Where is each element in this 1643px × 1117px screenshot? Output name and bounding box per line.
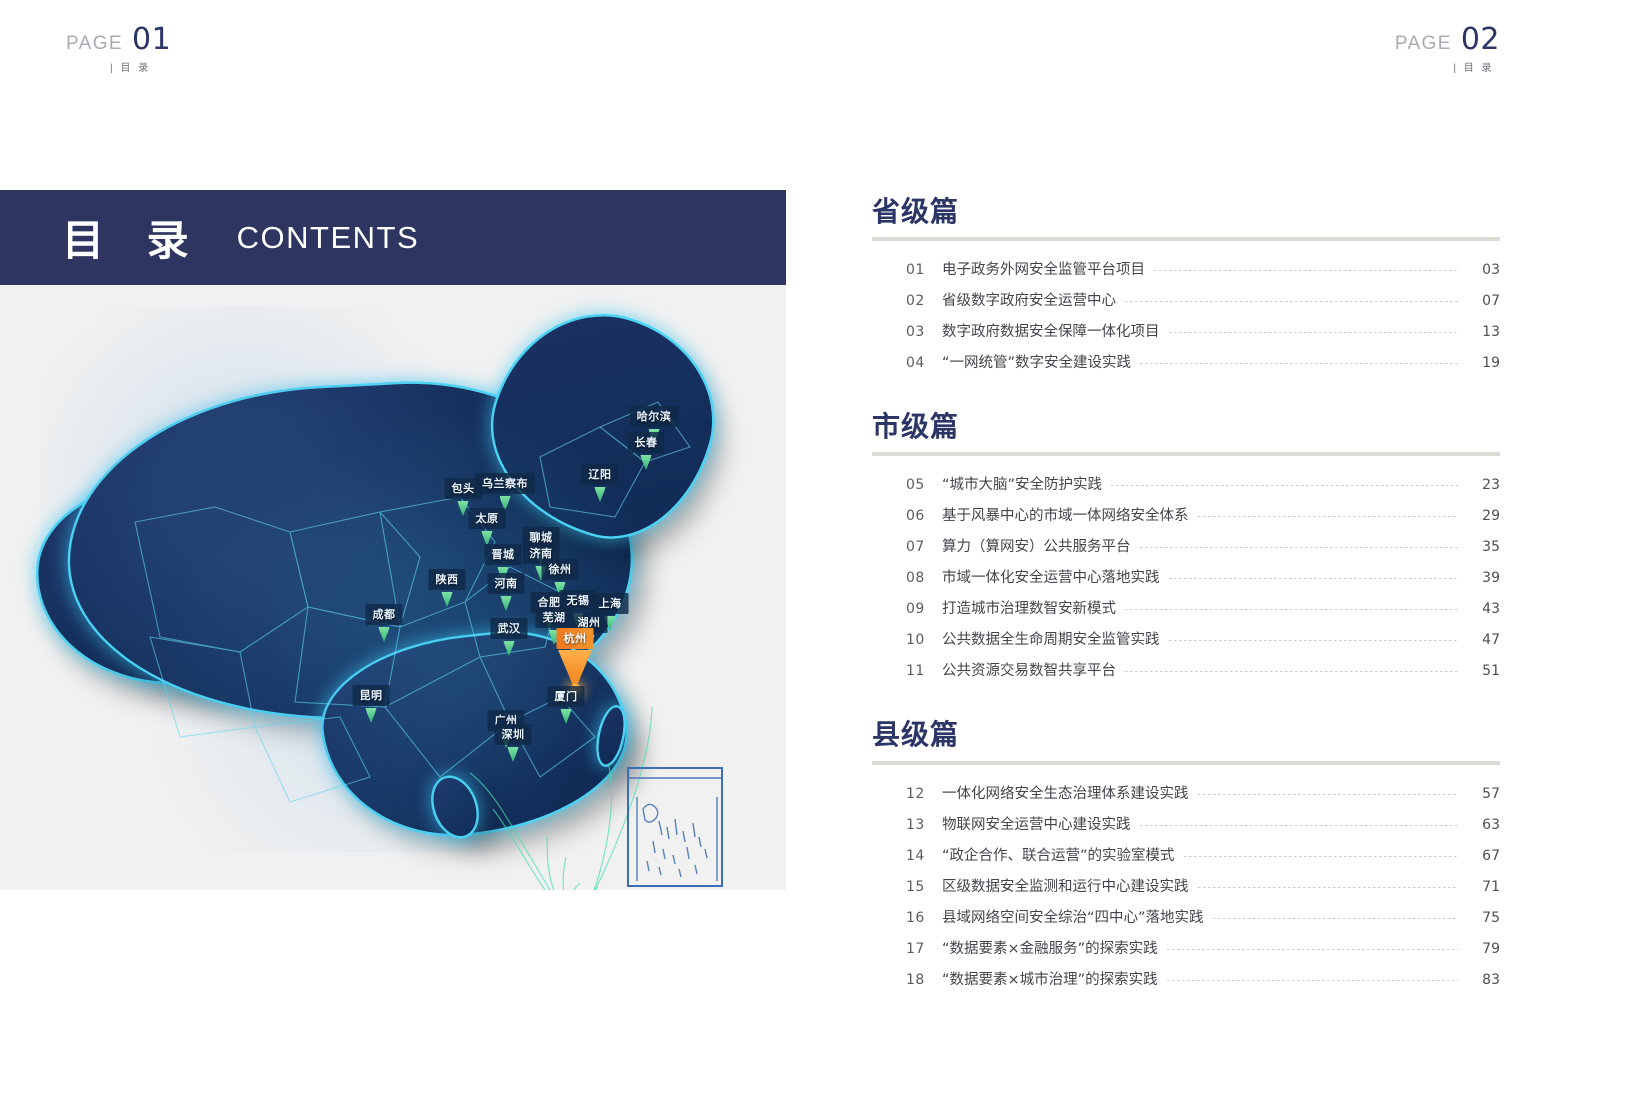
map-city-label: 上海 (592, 593, 629, 614)
page-header-left: PAGE 01 | 目 录 (66, 22, 171, 74)
map-city-label: 包头 (445, 478, 482, 499)
toc-entry[interactable]: 12一体化网络安全生态治理体系建设实践57 (872, 777, 1500, 808)
toc-entry-number: 15 (906, 879, 942, 895)
map-inset-divider (629, 777, 721, 779)
table-of-contents: 省级篇01电子政务外网安全监管平台项目0302省级数字政府安全运营中心0703数… (872, 196, 1500, 1016)
toc-entry[interactable]: 03数字政府数据安全保障一体化项目13 (872, 315, 1500, 346)
toc-entry-page-number: 79 (1466, 941, 1500, 957)
toc-entry-leader-dots (1140, 547, 1459, 548)
toc-entry[interactable]: 09打造城市治理数智安新模式43 (872, 592, 1500, 623)
toc-section-title: 市级篇 (872, 411, 1500, 443)
toc-section-title: 县级篇 (872, 719, 1500, 751)
toc-entry-title: “数据要素×城市治理”的探索实践 (942, 968, 1158, 989)
map-pin-icon (595, 487, 606, 502)
toc-entry-number: 09 (906, 601, 942, 617)
map-city-label: 辽阳 (582, 464, 619, 485)
toc-entry-page-number: 67 (1466, 848, 1500, 864)
toc-entry-leader-dots (1198, 794, 1459, 795)
toc-entry-page-number: 43 (1466, 601, 1500, 617)
map-pin-icon (366, 708, 377, 723)
toc-entry-leader-dots (1169, 332, 1459, 333)
toc-entry-leader-dots (1111, 485, 1458, 486)
toc-entry-title: 公共数据全生命周期安全监管实践 (942, 628, 1160, 649)
map-city-label: 深圳 (495, 724, 532, 745)
contents-title-en: CONTENTS (237, 220, 420, 256)
page-number-left: 01 (132, 22, 171, 57)
page-label-left: PAGE (66, 33, 123, 55)
toc-entry[interactable]: 17“数据要素×金融服务”的探索实践79 (872, 932, 1500, 963)
toc-entry-leader-dots (1167, 980, 1458, 981)
toc-section: 市级篇05“城市大脑”安全防护实践2306基于风暴中心的市域一体网络安全体系29… (872, 411, 1500, 685)
toc-entry-title: “数据要素×金融服务”的探索实践 (942, 937, 1158, 958)
toc-entry-number: 07 (906, 539, 942, 555)
toc-entry-title: 县域网络空间安全综治“四中心”落地实践 (942, 906, 1204, 927)
toc-entry-title: 算力（算网安）公共服务平台 (942, 535, 1131, 556)
toc-entry-title: 市域一体化安全运营中心落地实践 (942, 566, 1160, 587)
toc-entry-leader-dots (1198, 887, 1459, 888)
toc-entry[interactable]: 07算力（算网安）公共服务平台35 (872, 530, 1500, 561)
toc-section: 县级篇12一体化网络安全生态治理体系建设实践5713物联网安全运营中心建设实践6… (872, 719, 1500, 993)
toc-entry[interactable]: 16县域网络空间安全综治“四中心”落地实践75 (872, 901, 1500, 932)
toc-entry[interactable]: 11公共资源交易数智共享平台51 (872, 654, 1500, 685)
toc-entry-number: 16 (906, 910, 942, 926)
toc-entry-number: 05 (906, 477, 942, 493)
toc-section-divider (872, 761, 1500, 765)
toc-entry-title: 打造城市治理数智安新模式 (942, 597, 1116, 618)
map-city-marker[interactable]: 辽阳 (582, 464, 619, 502)
toc-entry-page-number: 23 (1466, 477, 1500, 493)
page-header-right-top: PAGE 02 (1395, 22, 1500, 57)
toc-entry[interactable]: 18“数据要素×城市治理”的探索实践83 (872, 963, 1500, 994)
toc-entry[interactable]: 08市域一体化安全运营中心落地实践39 (872, 561, 1500, 592)
toc-entry-title: 区级数据安全监测和运行中心建设实践 (942, 875, 1189, 896)
page-header-right: PAGE 02 | 目 录 (1395, 22, 1500, 74)
toc-entry-page-number: 39 (1466, 570, 1500, 586)
map-city-marker[interactable]: 杭州 (557, 628, 594, 690)
toc-section-divider (872, 452, 1500, 456)
toc-entry-number: 18 (906, 972, 942, 988)
toc-entry[interactable]: 10公共数据全生命周期安全监管实践47 (872, 623, 1500, 654)
map-pin-icon (508, 747, 519, 762)
map-city-marker[interactable]: 乌兰察布 (475, 473, 535, 511)
map-pin-icon (379, 627, 390, 642)
toc-entry-page-number: 07 (1466, 293, 1500, 309)
toc-entry-title: 公共资源交易数智共享平台 (942, 659, 1116, 680)
contents-title-cn: 目 录 (62, 207, 203, 268)
toc-entry-number: 11 (906, 663, 942, 679)
map-city-label: 芜湖 (536, 607, 573, 628)
toc-entry-number: 17 (906, 941, 942, 957)
map-city-label: 晋城 (485, 544, 522, 565)
toc-entry-leader-dots (1213, 918, 1458, 919)
toc-entry-leader-dots (1154, 270, 1458, 271)
toc-section-divider (872, 237, 1500, 241)
toc-entry-page-number: 71 (1466, 879, 1500, 895)
toc-section-title: 省级篇 (872, 196, 1500, 228)
toc-entry-title: “一网统管”数字安全建设实践 (942, 351, 1131, 372)
toc-entry-page-number: 51 (1466, 663, 1500, 679)
map-city-label: 成都 (366, 604, 403, 625)
map-pin-icon (561, 709, 572, 724)
map-pin-icon (501, 596, 512, 611)
map-pin-icon (442, 592, 453, 607)
toc-entry-number: 04 (906, 355, 942, 371)
toc-entry-leader-dots (1169, 640, 1459, 641)
map-city-marker[interactable]: 成都 (366, 604, 403, 642)
toc-entry-page-number: 13 (1466, 324, 1500, 340)
toc-entry[interactable]: 01电子政务外网安全监管平台项目03 (872, 253, 1500, 284)
map-city-marker[interactable]: 昆明 (353, 685, 390, 723)
map-city-label: 厦门 (548, 686, 585, 707)
map-city-label: 昆明 (353, 685, 390, 706)
toc-entry-number: 10 (906, 632, 942, 648)
map-city-marker[interactable]: 太原 (469, 508, 506, 546)
page-label-right: PAGE (1395, 33, 1452, 55)
toc-entry-number: 12 (906, 786, 942, 802)
china-map: 哈尔滨长春辽阳乌兰察布包头太原聊城济南晋城徐州河南陕西合肥无锡上海芜湖湖州成都武… (0, 285, 786, 890)
toc-entry-leader-dots (1167, 949, 1458, 950)
map-city-label: 乌兰察布 (475, 473, 535, 494)
toc-entry-number: 08 (906, 570, 942, 586)
map-city-marker[interactable]: 陕西 (429, 569, 466, 607)
toc-entry-leader-dots (1184, 856, 1458, 857)
toc-entry-title: “城市大脑”安全防护实践 (942, 473, 1102, 494)
toc-entry-leader-dots (1198, 516, 1459, 517)
map-inset-south-china-sea (627, 767, 723, 887)
map-city-label: 太原 (469, 508, 506, 529)
contents-title-bar: 目 录 CONTENTS (0, 190, 786, 285)
map-city-label: 哈尔滨 (630, 406, 679, 427)
toc-entry-leader-dots (1125, 301, 1458, 302)
map-pin-icon (504, 641, 515, 656)
toc-entry-number: 13 (906, 817, 942, 833)
toc-entry-number: 02 (906, 293, 942, 309)
toc-entry-page-number: 35 (1466, 539, 1500, 555)
toc-entry-page-number: 63 (1466, 817, 1500, 833)
toc-entry-page-number: 19 (1466, 355, 1500, 371)
toc-entry-number: 03 (906, 324, 942, 340)
map-city-marker[interactable]: 长春 (628, 432, 665, 470)
page-number-right: 02 (1461, 22, 1500, 57)
toc-entry-page-number: 29 (1466, 508, 1500, 524)
toc-entry-page-number: 75 (1466, 910, 1500, 926)
map-city-label: 陕西 (429, 569, 466, 590)
toc-entry-title: 物联网安全运营中心建设实践 (942, 813, 1131, 834)
toc-entry[interactable]: 02省级数字政府安全运营中心07 (872, 284, 1500, 315)
page-subtitle-right: | 目 录 (1453, 59, 1500, 74)
toc-entry-title: 电子政务外网安全监管平台项目 (942, 258, 1145, 279)
toc-entry-number: 01 (906, 262, 942, 278)
toc-entry-leader-dots (1140, 363, 1458, 364)
toc-entry-title: 基于风暴中心的市域一体网络安全体系 (942, 504, 1189, 525)
toc-entry-number: 06 (906, 508, 942, 524)
toc-entry-page-number: 47 (1466, 632, 1500, 648)
toc-entry-title: 数字政府数据安全保障一体化项目 (942, 320, 1160, 341)
map-pin-icon (641, 455, 652, 470)
toc-entry-leader-dots (1125, 609, 1458, 610)
toc-entry[interactable]: 14“政企合作、联合运营”的实验室模式67 (872, 839, 1500, 870)
map-city-marker[interactable]: 厦门 (548, 686, 585, 724)
map-city-marker[interactable]: 河南 (488, 573, 525, 611)
map-city-label: 杭州 (557, 628, 594, 649)
toc-entry[interactable]: 15区级数据安全监测和运行中心建设实践71 (872, 870, 1500, 901)
toc-entry-page-number: 03 (1466, 262, 1500, 278)
map-city-label: 武汉 (491, 618, 528, 639)
map-pin-icon (458, 501, 469, 516)
map-landmass (40, 307, 720, 852)
toc-entry-title: 省级数字政府安全运营中心 (942, 289, 1116, 310)
toc-entry[interactable]: 13物联网安全运营中心建设实践63 (872, 808, 1500, 839)
toc-entry-number: 14 (906, 848, 942, 864)
map-inset-islands (629, 769, 725, 889)
contents-cover-panel: 目 录 CONTENTS (0, 190, 786, 890)
toc-section: 省级篇01电子政务外网安全监管平台项目0302省级数字政府安全运营中心0703数… (872, 196, 1500, 377)
toc-entry[interactable]: 06基于风暴中心的市域一体网络安全体系29 (872, 499, 1500, 530)
toc-entry-title: 一体化网络安全生态治理体系建设实践 (942, 782, 1189, 803)
toc-entry-leader-dots (1169, 578, 1459, 579)
map-city-label: 长春 (628, 432, 665, 453)
toc-entry-page-number: 57 (1466, 786, 1500, 802)
toc-entry-leader-dots (1140, 825, 1459, 826)
page-subtitle-left: | 目 录 (66, 59, 159, 74)
toc-entry[interactable]: 04“一网统管”数字安全建设实践19 (872, 346, 1500, 377)
toc-entry-title: “政企合作、联合运营”的实验室模式 (942, 844, 1175, 865)
toc-entry[interactable]: 05“城市大脑”安全防护实践23 (872, 468, 1500, 499)
toc-entry-leader-dots (1125, 671, 1458, 672)
document-page: PAGE 01 | 目 录 PAGE 02 | 目 录 目 录 CONTENTS (0, 0, 1643, 1117)
map-city-marker[interactable]: 武汉 (491, 618, 528, 656)
toc-entry-page-number: 83 (1466, 972, 1500, 988)
map-city-label: 徐州 (542, 559, 579, 580)
map-city-marker[interactable]: 深圳 (495, 724, 532, 762)
map-canvas: 哈尔滨长春辽阳乌兰察布包头太原聊城济南晋城徐州河南陕西合肥无锡上海芜湖湖州成都武… (0, 285, 786, 890)
page-header-left-top: PAGE 01 (66, 22, 171, 57)
map-city-label: 河南 (488, 573, 525, 594)
